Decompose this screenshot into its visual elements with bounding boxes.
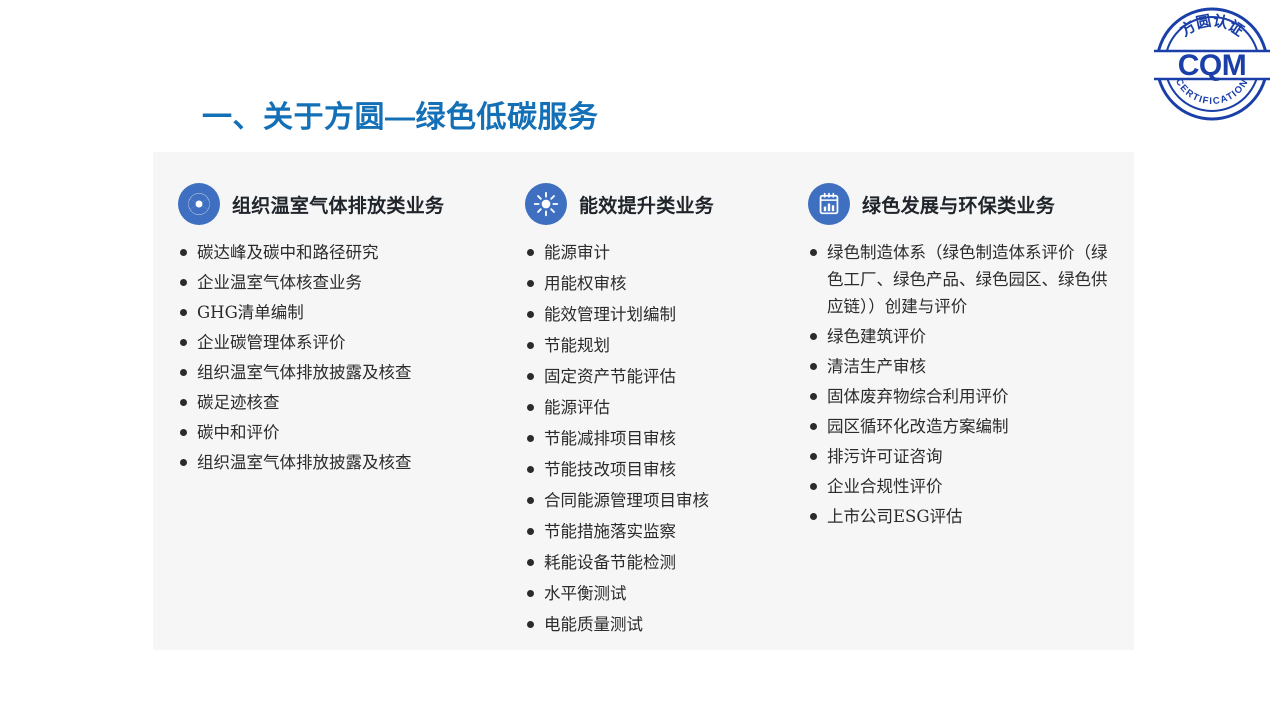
list-item: 节能措施落实监察: [525, 518, 790, 545]
list-item: 清洁生产审核: [808, 353, 1118, 380]
list-item: 绿色制造体系（绿色制造体系评价（绿色工厂、绿色产品、绿色园区、绿色供应链））创建…: [808, 239, 1118, 320]
list-item: GHG清单编制: [178, 299, 508, 326]
logo-main-text: CQM: [1178, 49, 1247, 82]
list-item: 上市公司ESG评估: [808, 503, 1118, 530]
list-item: 节能技改项目审核: [525, 456, 790, 483]
list-item: 组织温室气体排放披露及核查: [178, 359, 508, 386]
list-item: 节能规划: [525, 332, 790, 359]
list-item: 水平衡测试: [525, 580, 790, 607]
column-header: 绿色发展与环保类业务: [808, 183, 1118, 225]
list-item: 绿色建筑评价: [808, 323, 1118, 350]
list-item: 合同能源管理项目审核: [525, 487, 790, 514]
service-list: 碳达峰及碳中和路径研究 企业温室气体核查业务 GHG清单编制 企业碳管理体系评价…: [178, 239, 508, 476]
list-item: 碳足迹核查: [178, 389, 508, 416]
list-item: 碳中和评价: [178, 419, 508, 446]
sun-brightness-icon: [525, 183, 567, 225]
list-item: 组织温室气体排放披露及核查: [178, 449, 508, 476]
list-item: 节能减排项目审核: [525, 425, 790, 452]
clipboard-chart-icon: [808, 183, 850, 225]
list-item: 能源审计: [525, 239, 790, 266]
page-title: 一、关于方圆—绿色低碳服务: [202, 92, 599, 136]
list-item: 企业合规性评价: [808, 473, 1118, 500]
column-header: 组织温室气体排放类业务: [178, 183, 508, 225]
list-item: 企业碳管理体系评价: [178, 329, 508, 356]
service-column-green-development: 绿色发展与环保类业务 绿色制造体系（绿色制造体系评价（绿色工厂、绿色产品、绿色园…: [808, 183, 1118, 533]
list-item: 固定资产节能评估: [525, 363, 790, 390]
service-column-ghg: 组织温室气体排放类业务 碳达峰及碳中和路径研究 企业温室气体核查业务 GHG清单…: [178, 183, 508, 479]
list-item: 排污许可证咨询: [808, 443, 1118, 470]
list-item: 电能质量测试: [525, 611, 790, 638]
cqm-certification-logo: 方圆认证 CERTIFICATION CQM: [1154, 6, 1270, 122]
list-item: 固体废弃物综合利用评价: [808, 383, 1118, 410]
service-list: 能源审计 用能权审核 能效管理计划编制 节能规划 固定资产节能评估 能源评估 节…: [525, 239, 790, 638]
column-heading-label: 能效提升类业务: [579, 191, 714, 218]
list-item: 能效管理计划编制: [525, 301, 790, 328]
list-item: 能源评估: [525, 394, 790, 421]
list-item: 园区循环化改造方案编制: [808, 413, 1118, 440]
service-list: 绿色制造体系（绿色制造体系评价（绿色工厂、绿色产品、绿色园区、绿色供应链））创建…: [808, 239, 1118, 530]
service-columns: 组织温室气体排放类业务 碳达峰及碳中和路径研究 企业温室气体核查业务 GHG清单…: [153, 152, 1134, 650]
service-column-energy-efficiency: 能效提升类业务 能源审计 用能权审核 能效管理计划编制 节能规划 固定资产节能评…: [525, 183, 790, 642]
column-header: 能效提升类业务: [525, 183, 790, 225]
list-item: 企业温室气体核查业务: [178, 269, 508, 296]
list-item: 用能权审核: [525, 270, 790, 297]
column-heading-label: 绿色发展与环保类业务: [862, 191, 1055, 218]
column-heading-label: 组织温室气体排放类业务: [232, 191, 444, 218]
list-item: 碳达峰及碳中和路径研究: [178, 239, 508, 266]
list-item: 耗能设备节能检测: [525, 549, 790, 576]
slide-root: 方圆认证 CERTIFICATION CQM 一、关于方圆—绿色低碳服务: [0, 0, 1280, 720]
aperture-icon: [178, 183, 220, 225]
content-panel: 组织温室气体排放类业务 碳达峰及碳中和路径研究 企业温室气体核查业务 GHG清单…: [153, 152, 1134, 650]
